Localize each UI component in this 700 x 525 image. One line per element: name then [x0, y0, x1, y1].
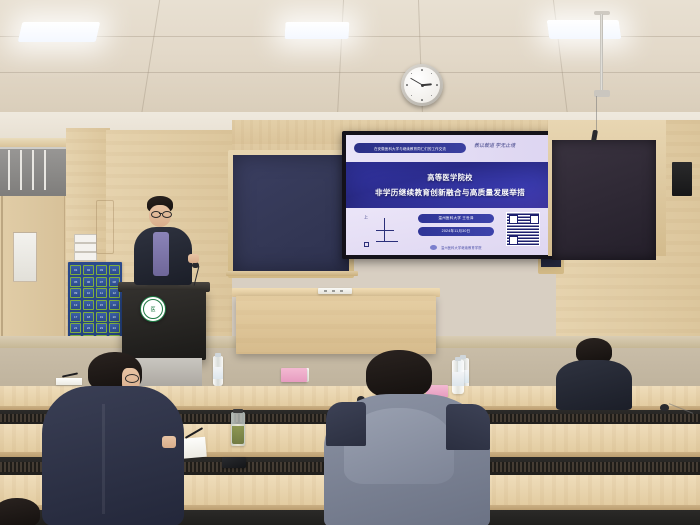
ceiling-seam	[0, 72, 700, 73]
slide-presenter-pill: 温州医科大学 王世泽	[418, 214, 494, 223]
phone-pocket[interactable]: 05	[70, 277, 81, 287]
blackboard-ledge	[226, 271, 358, 276]
wall-display-panel	[552, 140, 656, 260]
projector-mount-pole	[600, 14, 603, 92]
attendee-left-jacket	[42, 386, 184, 525]
seal-stroke-base	[376, 241, 398, 242]
jacket-seam	[102, 404, 105, 514]
attendee-left-hand	[162, 436, 176, 448]
presenter-hand	[188, 254, 199, 263]
ceiling-light-2	[285, 22, 350, 39]
balcony-rail	[8, 150, 10, 190]
ceiling-light-1	[18, 22, 101, 42]
projection-screen: 在安徽医科大学与继续教育同仁们的工作交流 教以载道 学无止境 高等医学院校 非学…	[342, 131, 558, 259]
clock-center	[421, 84, 424, 87]
emblem-inner-text: 医	[143, 299, 163, 319]
lecture-hall-photo: 0102030405060708091011121314151617181920…	[0, 0, 700, 525]
blackboard	[233, 155, 349, 271]
water-bottle	[213, 356, 223, 386]
attendee-right	[548, 338, 668, 418]
phone-pocket[interactable]: 16	[109, 300, 120, 310]
seal-stroke-h	[376, 230, 394, 231]
presenter	[126, 196, 202, 288]
wall-light-switch[interactable]	[74, 243, 97, 252]
wall-clock	[401, 64, 443, 106]
attendee-center-shoulder-right	[446, 404, 490, 450]
phone-pocket[interactable]: 23	[96, 323, 107, 333]
desk-nameplate	[281, 368, 307, 382]
smartphone[interactable]	[222, 457, 246, 468]
slide-seal-text: 上	[364, 215, 368, 219]
slide-title-line1: 高等医学院校	[346, 173, 554, 183]
phone-pocket[interactable]: 22	[83, 323, 94, 333]
slide: 在安徽医科大学与继续教育同仁们的工作交流 教以载道 学无止境 高等医学院校 非学…	[346, 135, 554, 255]
qr-code-icon	[506, 212, 540, 246]
clock-hour-hand	[422, 83, 432, 86]
presenter-shirt-front	[153, 232, 169, 276]
door-jamb	[1, 196, 3, 346]
phone-pocket[interactable]: 14	[83, 300, 94, 310]
slide-header-calligraphy: 教以载道 学无止境	[474, 142, 515, 149]
attendee-center	[318, 350, 498, 525]
slide-seal-graphic: 上	[362, 213, 406, 247]
slide-header-banner: 在安徽医科大学与继续教育同仁们的工作交流	[354, 143, 466, 153]
phone-pocket[interactable]: 07	[96, 277, 107, 287]
attendee-right-jacket	[556, 360, 632, 410]
teacher-desk	[236, 296, 436, 354]
hanging-mic-wire	[596, 96, 597, 132]
slide-body: 高等医学院校 非学历继续教育创新融合与高质量发展举措	[346, 162, 554, 208]
slide-header-banner-text: 在安徽医科大学与继续教育同仁们的工作交流	[374, 146, 446, 151]
seal-stamp	[364, 242, 369, 247]
slide-title-line2: 非学历继续教育创新融合与高质量发展举措	[346, 187, 554, 198]
phone-pocket[interactable]: 02	[83, 265, 94, 275]
footer-logo-mark	[430, 245, 437, 250]
glasses-bridge	[159, 213, 162, 214]
phone-pocket[interactable]: 15	[96, 300, 107, 310]
clock-face	[404, 67, 440, 103]
phone-pocket[interactable]: 21	[70, 323, 81, 333]
university-emblem: 医	[140, 296, 166, 322]
slide-date-pill: 2024年11月30日	[418, 227, 494, 236]
podium	[122, 290, 206, 360]
phone-pocket[interactable]: 06	[83, 277, 94, 287]
phone-pocket[interactable]: 20	[109, 312, 120, 322]
slide-date-text: 2024年11月30日	[442, 229, 471, 234]
ceiling	[0, 0, 700, 118]
phone-pocket[interactable]: 11	[96, 288, 107, 298]
phone-pocket[interactable]: 18	[83, 312, 94, 322]
glasses-icon	[162, 211, 172, 218]
balcony-rail	[20, 150, 22, 190]
glasses-icon	[125, 374, 139, 383]
balcony-rail	[32, 150, 34, 190]
phone-pocket[interactable]: 24	[109, 323, 120, 333]
attendee-foreground-head	[0, 498, 40, 525]
balcony-ledge	[0, 138, 70, 147]
ceiling-light-3	[547, 20, 622, 39]
phone-pocket[interactable]: 03	[96, 265, 107, 275]
door-window	[13, 232, 37, 282]
attendee-center-shoulder-left	[326, 402, 366, 446]
phone-pocket[interactable]: 19	[96, 312, 107, 322]
wall-light-switch[interactable]	[74, 234, 97, 243]
phone-pocket[interactable]: 17	[70, 312, 81, 322]
phone-pocket[interactable]: 01	[70, 265, 81, 275]
phone-pocket[interactable]: 13	[70, 300, 81, 310]
slide-footer-logo-text: 温州医科大学继续教育学院	[441, 245, 482, 250]
wall-panel-inset	[96, 200, 114, 254]
wall-speaker	[672, 162, 692, 196]
attendee-left	[42, 352, 212, 525]
power-strip[interactable]	[318, 288, 352, 294]
phone-pocket[interactable]: 09	[70, 288, 81, 298]
phone-pocket[interactable]: 04	[109, 265, 120, 275]
slide-presenter-text: 温州医科大学 王世泽	[438, 216, 473, 221]
attendee-center-hair	[366, 350, 432, 398]
balcony-rail	[44, 150, 46, 190]
tea-tumbler	[231, 412, 245, 446]
wall-light-switch[interactable]	[74, 252, 97, 261]
phone-pocket[interactable]: 10	[83, 288, 94, 298]
